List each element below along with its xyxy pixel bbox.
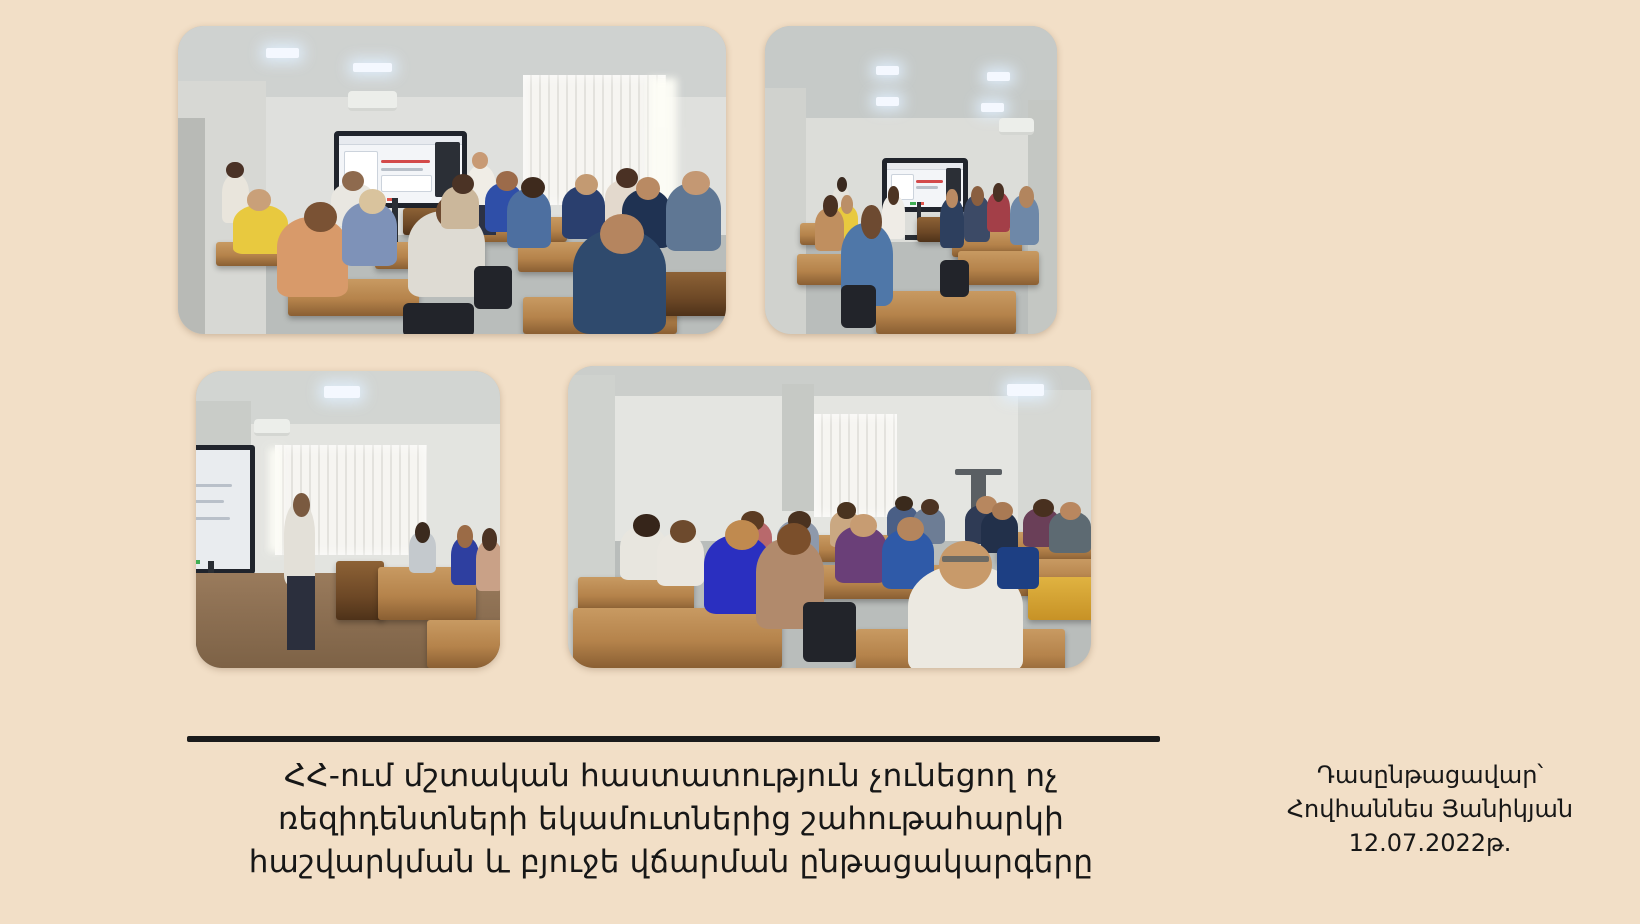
caption-line-1: ՀՀ-ում մշտական հաստատություն չունեցող ոչ (166, 755, 1176, 798)
page-title: ՀՀ-ում մշտական հաստատություն չունեցող ոչ… (166, 755, 1176, 883)
photo-bottom-right[interactable] (568, 366, 1091, 668)
classroom-scene (196, 371, 500, 668)
classroom-scene (178, 26, 726, 334)
photo-bottom-left[interactable] (196, 371, 500, 668)
caption-line-3: հաշվարկման և բյուջե վճարման ընթացակարգեր… (166, 841, 1176, 884)
horizontal-divider (187, 736, 1160, 742)
presenter-name: Հովհաննես Յանիկյան (1230, 792, 1630, 826)
presenter-date: 12.07.2022թ. (1230, 826, 1630, 860)
slide-canvas: ՀՀ-ում մշտական հաստատություն չունեցող ոչ… (0, 0, 1640, 924)
presenter-role-label: Դասընթացավար՝ (1230, 758, 1630, 792)
photo-top-right[interactable] (765, 26, 1057, 334)
photo-top-left[interactable] (178, 26, 726, 334)
classroom-scene (568, 366, 1091, 668)
presenter-credit: Դասընթացավար՝ Հովհաննես Յանիկյան 12.07.2… (1230, 758, 1630, 860)
caption-line-2: ռեզիդենտների եկամուտներից շահութահարկի (166, 798, 1176, 841)
classroom-scene (765, 26, 1057, 334)
